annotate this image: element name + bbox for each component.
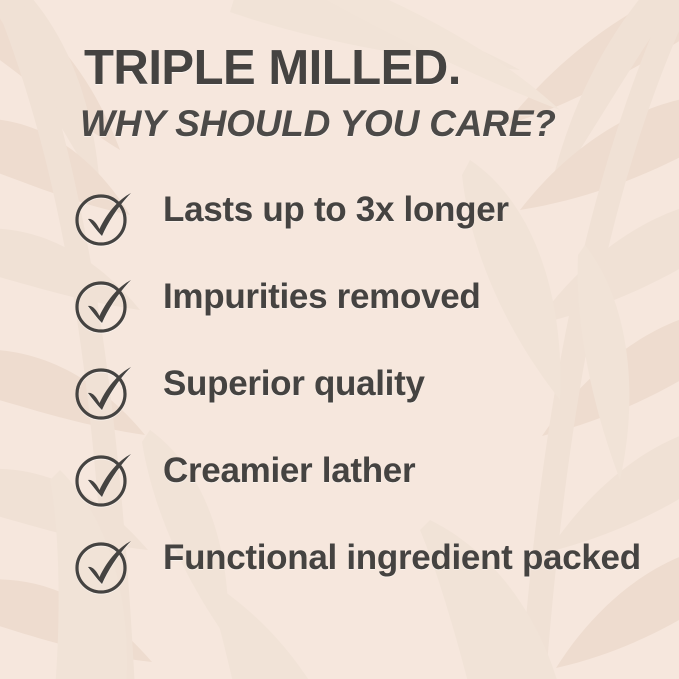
list-item: Lasts up to 3x longer bbox=[0, 186, 679, 273]
check-circle-icon bbox=[74, 452, 136, 508]
check-circle-icon bbox=[74, 539, 136, 595]
list-item: Functional ingredient packed bbox=[0, 534, 679, 621]
list-item-label: Creamier lather bbox=[163, 449, 663, 493]
benefits-list: Lasts up to 3x longer Impurities removed bbox=[0, 186, 679, 621]
list-item-label: Impurities removed bbox=[163, 275, 663, 319]
poster-content: TRIPLE MILLED. WHY SHOULD YOU CARE? Last… bbox=[0, 0, 679, 679]
list-item-label: Lasts up to 3x longer bbox=[163, 188, 663, 232]
list-item: Superior quality bbox=[0, 360, 679, 447]
page-title: TRIPLE MILLED. bbox=[84, 44, 461, 93]
list-item-label: Superior quality bbox=[163, 362, 663, 406]
check-circle-icon bbox=[74, 365, 136, 421]
page-subtitle: WHY SHOULD YOU CARE? bbox=[80, 105, 556, 142]
list-item: Creamier lather bbox=[0, 447, 679, 534]
product-benefits-poster: TRIPLE MILLED. WHY SHOULD YOU CARE? Last… bbox=[0, 0, 679, 679]
list-item: Impurities removed bbox=[0, 273, 679, 360]
check-circle-icon bbox=[74, 278, 136, 334]
check-circle-icon bbox=[74, 191, 136, 247]
list-item-label: Functional ingredient packed bbox=[163, 536, 663, 580]
